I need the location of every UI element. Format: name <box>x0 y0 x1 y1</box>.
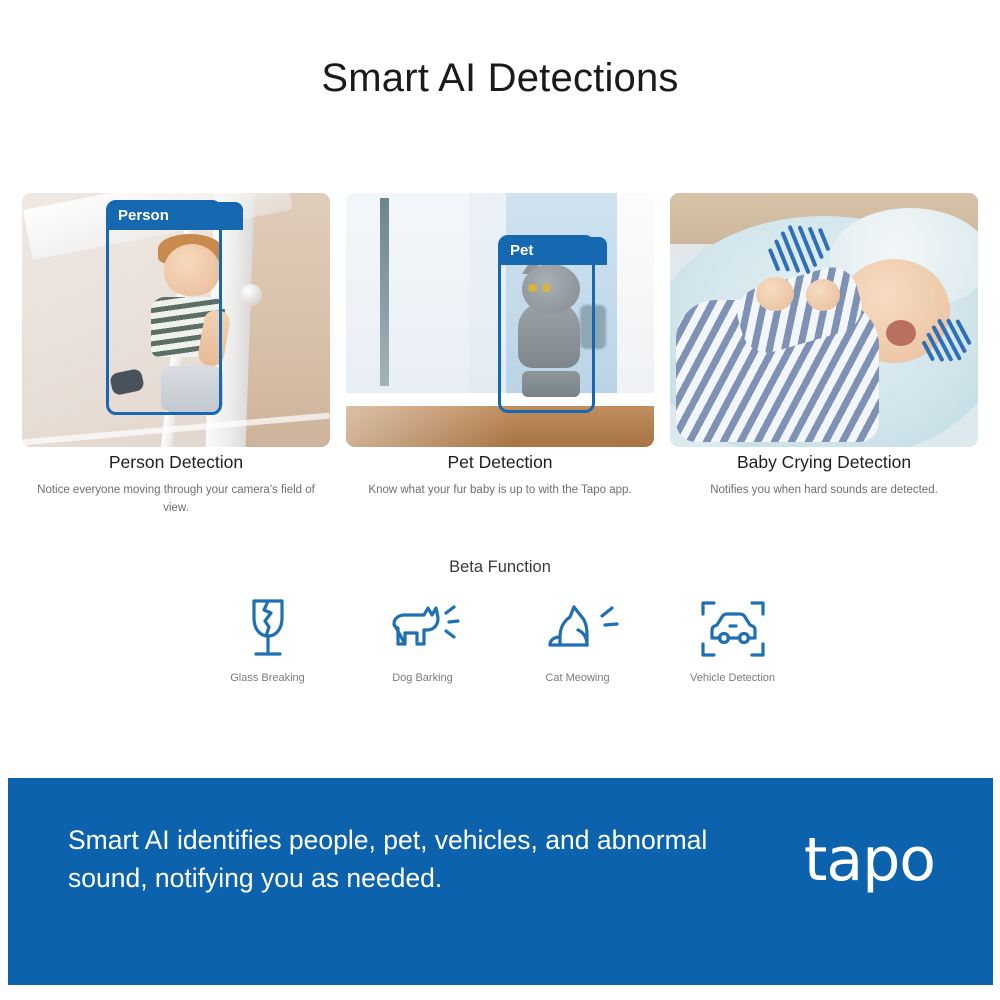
footer-tagline: Smart AI identifies people, pet, vehicle… <box>68 822 708 897</box>
beta-label-vehicle-detection: Vehicle Detection <box>690 672 775 684</box>
feature-card-person: Person <box>22 193 330 447</box>
caption-pet: Pet Detection Know what your fur baby is… <box>346 452 654 518</box>
tapo-logo: tapo <box>804 830 935 890</box>
beta-item-vehicle-detection: Vehicle Detection <box>655 592 810 684</box>
beta-item-glass-breaking: Glass Breaking <box>190 592 345 684</box>
beta-item-cat-meowing: Cat Meowing <box>500 592 655 684</box>
caption-title-baby-crying: Baby Crying Detection <box>670 452 978 473</box>
detection-box-person: Person <box>106 200 222 415</box>
caption-desc-baby-crying: Notifies you when hard sounds are detect… <box>670 482 978 500</box>
beta-label-dog-barking: Dog Barking <box>392 672 453 684</box>
feature-card-row: Person <box>22 193 978 447</box>
caption-title-person: Person Detection <box>22 452 330 473</box>
detection-label-person: Person <box>108 202 243 230</box>
car-focus-icon <box>700 592 766 666</box>
beta-label-cat-meowing: Cat Meowing <box>545 672 609 684</box>
page-title: Smart AI Detections <box>0 56 1000 101</box>
caption-person: Person Detection Notice everyone moving … <box>22 452 330 518</box>
product-feature-page: Smart AI Detections Person <box>0 0 1000 1000</box>
caption-title-pet: Pet Detection <box>346 452 654 473</box>
beta-label-glass-breaking: Glass Breaking <box>230 672 305 684</box>
beta-item-dog-barking: Dog Barking <box>345 592 500 684</box>
cat-icon <box>536 592 620 666</box>
broken-glass-icon <box>242 592 294 666</box>
feature-card-pet: Pet <box>346 193 654 447</box>
footer-banner: Smart AI identifies people, pet, vehicle… <box>8 778 993 985</box>
dog-icon <box>386 592 460 666</box>
caption-baby-crying: Baby Crying Detection Notifies you when … <box>670 452 978 518</box>
beta-section-heading: Beta Function <box>0 558 1000 577</box>
feature-card-baby-crying <box>670 193 978 447</box>
beta-icon-row: Glass Breaking Dog Barking <box>190 592 810 684</box>
caption-desc-person: Notice everyone moving through your came… <box>22 482 330 518</box>
photo-crying-baby-in-nest <box>670 193 978 447</box>
feature-caption-row: Person Detection Notice everyone moving … <box>22 452 978 518</box>
caption-desc-pet: Know what your fur baby is up to with th… <box>346 482 654 500</box>
detection-box-pet: Pet <box>498 235 595 413</box>
detection-label-pet: Pet <box>500 237 607 265</box>
